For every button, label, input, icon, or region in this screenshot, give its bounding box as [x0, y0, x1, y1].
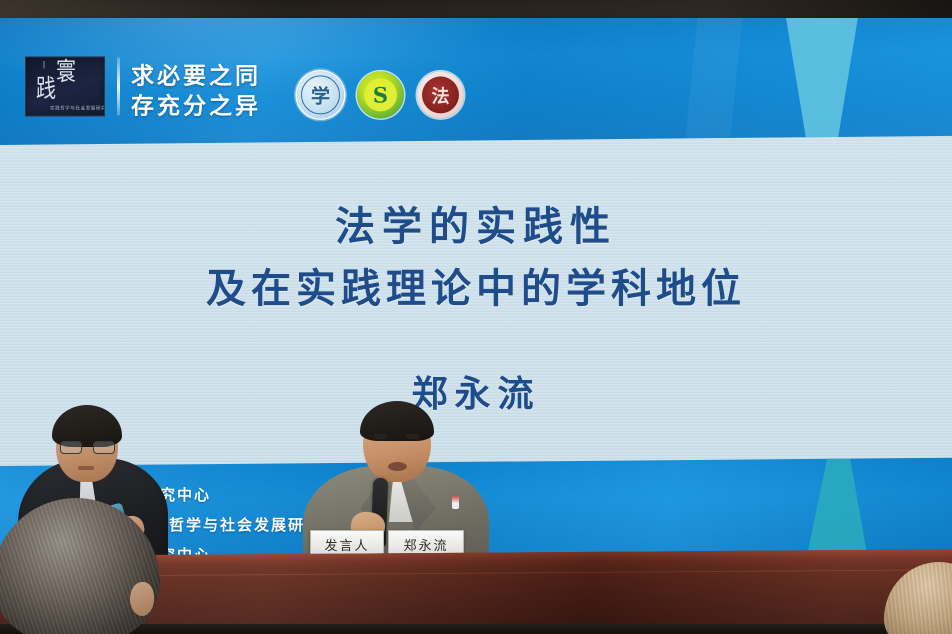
red-seal-emblem: 法 [417, 71, 464, 118]
stage-backdrop-banner-top: 丨 寰 践 实践哲学与社会发展研究中心 求必要之同 存充分之异 学 S [0, 5, 952, 145]
lower-band-line-2: 践哲学与社会发展研究 [152, 514, 322, 535]
logo-glyph-top: 寰 [56, 59, 74, 84]
green-s-emblem: S [357, 71, 404, 118]
logo-subtitle: 实践哲学与社会发展研究中心 [50, 105, 101, 111]
banner-divider [117, 57, 120, 115]
banner-slogan: 求必要之同 存充分之异 [131, 61, 261, 121]
conference-photo-scene: 丨 寰 践 实践哲学与社会发展研究中心 求必要之同 存充分之异 学 S [0, 0, 952, 634]
ceiling-dark-strip [0, 0, 952, 18]
logo-glyph-bottom: 践 [36, 76, 54, 101]
presenter-mouth [388, 462, 407, 471]
audience-left-ear [130, 582, 154, 616]
floor-shadow-strip [0, 624, 952, 634]
slide-title-line-1: 法学的实践性 [0, 196, 952, 258]
lower-band-line-1: 究中心 [160, 484, 211, 505]
center-logo-mark: 丨 寰 践 实践哲学与社会发展研究中心 [25, 56, 105, 116]
emblem-group: 学 S 法 [297, 71, 464, 118]
slide-presenter-name: 郑永流 [0, 365, 952, 417]
red-seal-emblem-char: 法 [417, 71, 464, 118]
elder-mouth [78, 466, 94, 470]
presenter-eye-right [406, 434, 419, 439]
presenter-lapel-badge [452, 496, 459, 509]
slogan-line-1: 求必要之同 [131, 61, 261, 91]
university-seal-emblem-char: 学 [297, 71, 344, 118]
logo-accent-glyph: 丨 [40, 59, 48, 70]
presenter-eye-left [374, 434, 387, 439]
university-seal-emblem: 学 [297, 71, 344, 118]
elder-eyeglasses [60, 441, 115, 453]
slide-title: 法学的实践性 及在实践理论中的学科地位 [0, 196, 952, 320]
slogan-line-2: 存充分之异 [131, 91, 261, 121]
green-s-emblem-char: S [357, 71, 404, 118]
slide-title-line-2: 及在实践理论中的学科地位 [0, 258, 952, 320]
